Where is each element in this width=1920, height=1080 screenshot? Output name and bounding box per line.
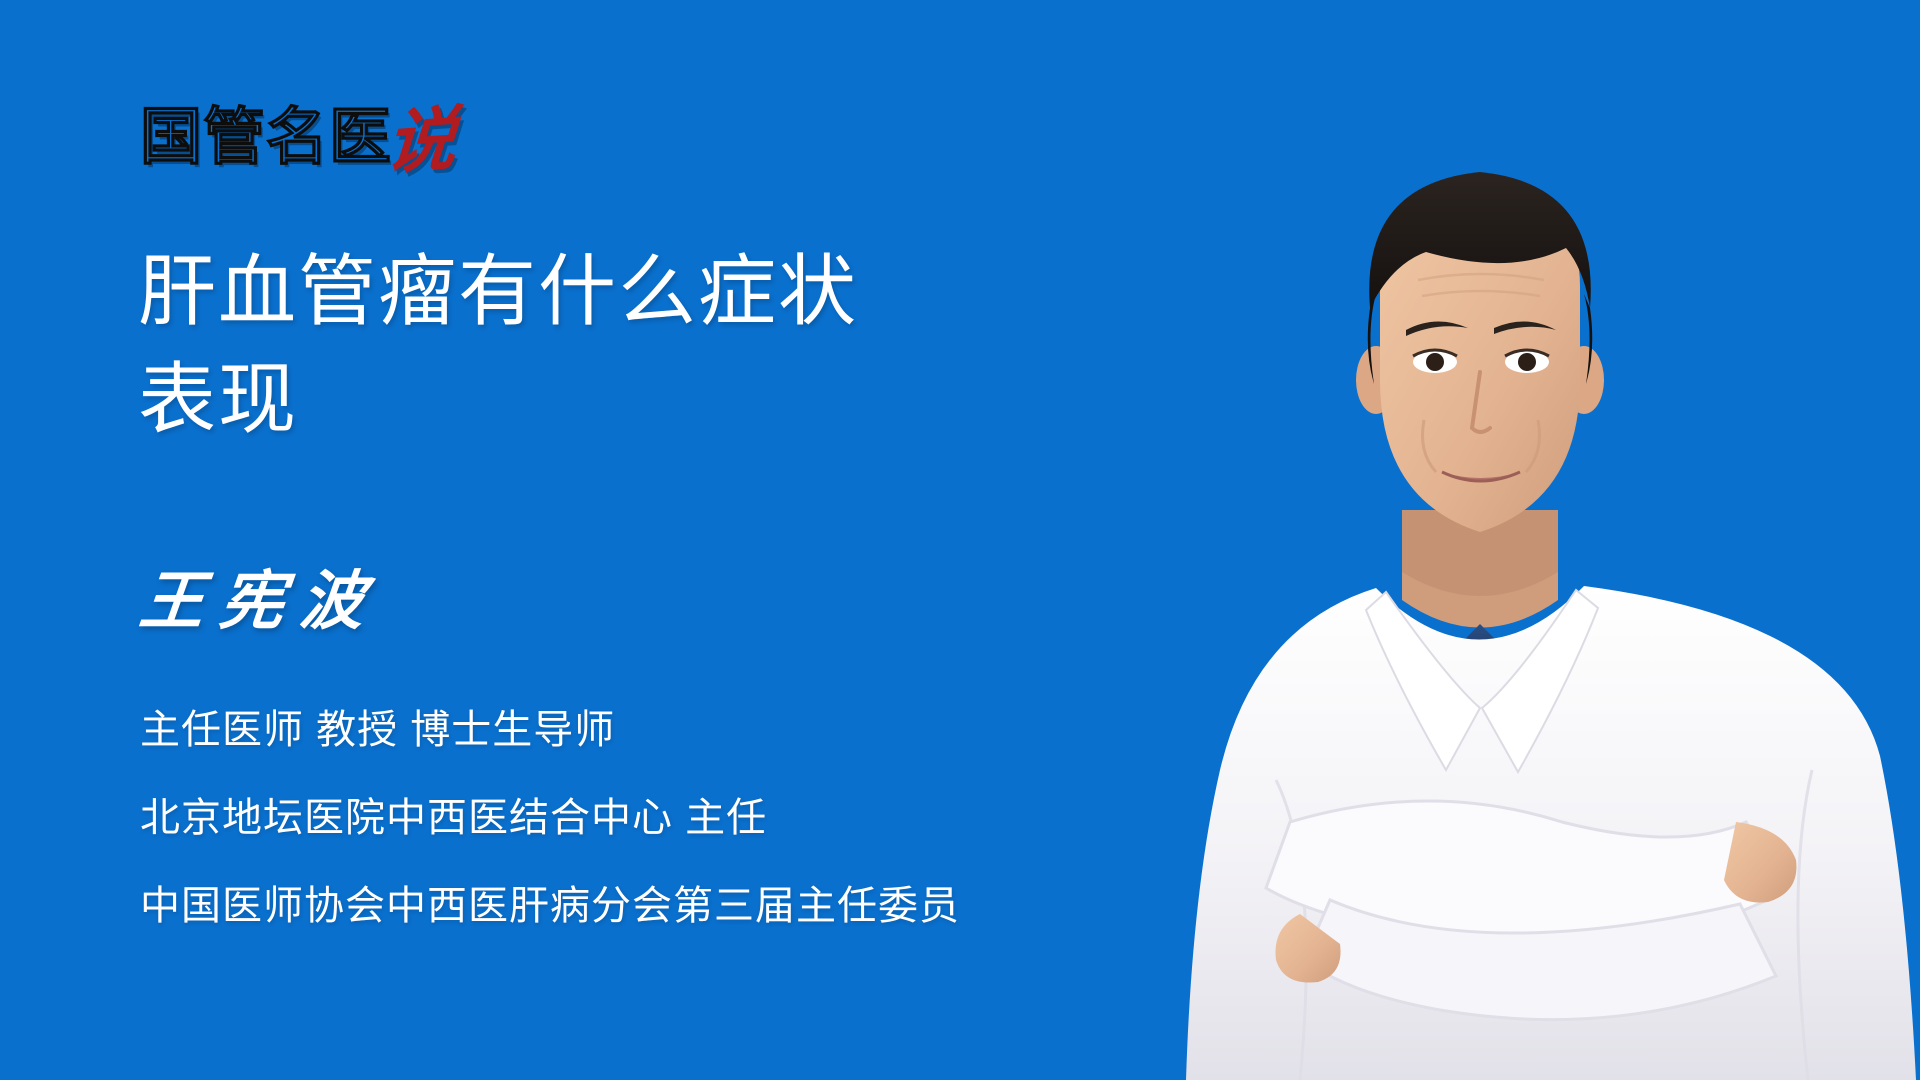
headline-line-2: 表现	[138, 346, 1138, 454]
portrait-head	[1356, 172, 1604, 532]
headline-line-1: 肝血管瘤有什么症状	[138, 238, 1138, 346]
credential-line-1: 主任医师 教授 博士生导师	[140, 710, 960, 750]
doctor-portrait-illustration	[1180, 80, 1920, 1080]
doctor-portrait	[1180, 80, 1920, 1080]
video-cover-slide: 国管名医 说 肝血管瘤有什么症状 表现 王宪波 主任医师 教授 博士生导师 北京…	[0, 0, 1920, 1080]
credential-line-3: 中国医师协会中西医肝病分会第三届主任委员	[140, 886, 960, 926]
portrait-body	[1186, 490, 1916, 1080]
program-logo-main-text: 国管名医	[140, 106, 392, 168]
program-logo: 国管名医 说	[140, 92, 456, 168]
headline: 肝血管瘤有什么症状 表现	[138, 238, 1138, 453]
doctor-credentials: 主任医师 教授 博士生导师 北京地坛医院中西医结合中心 主任 中国医师协会中西医…	[140, 710, 960, 926]
program-logo-accent-text: 说	[383, 105, 458, 176]
credential-line-2: 北京地坛医院中西医结合中心 主任	[140, 798, 960, 838]
coat-badge	[1244, 490, 1328, 574]
doctor-name: 王宪波	[137, 570, 384, 634]
